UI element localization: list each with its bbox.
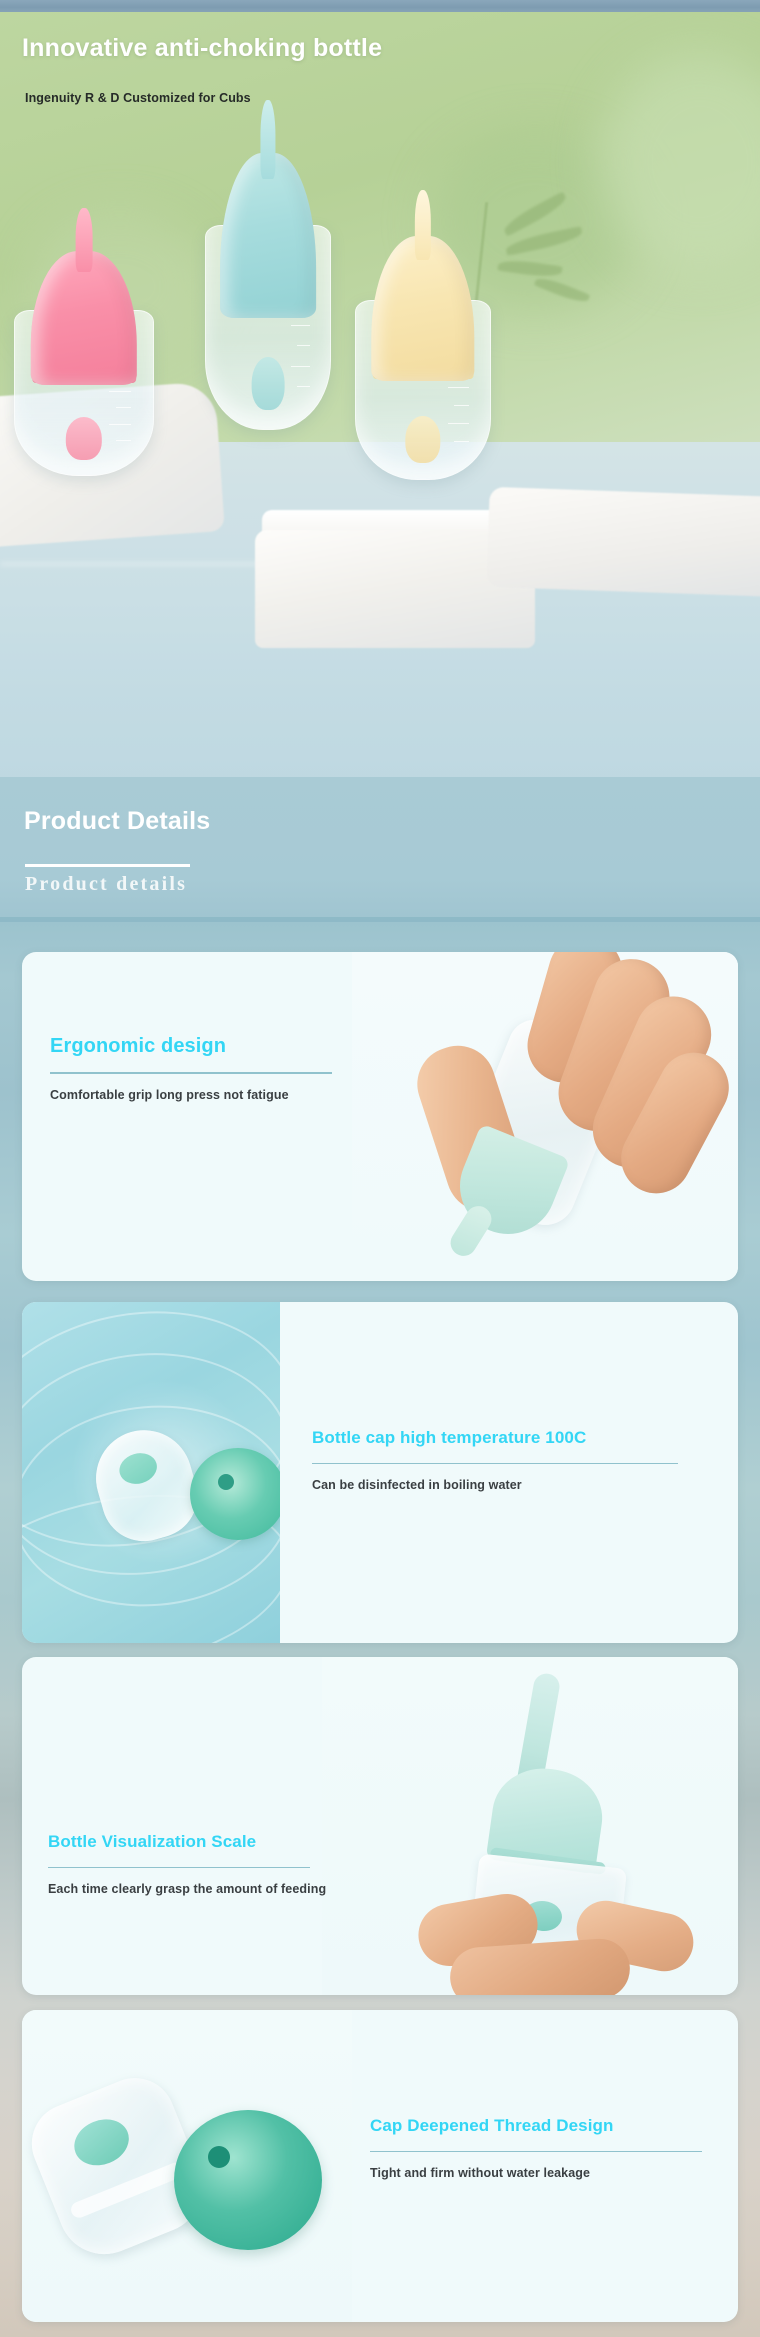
green-valve-cap <box>174 2110 322 2250</box>
bottle-nozzle <box>260 100 275 179</box>
feature-card[interactable]: Cap Deepened Thread Design Tight and fir… <box>22 2010 738 2322</box>
feature-title-underline <box>370 2151 702 2153</box>
product-bottle-cream <box>355 190 491 480</box>
feature-text-block: Bottle Visualization Scale Each time cle… <box>48 1832 388 1899</box>
feature-image-ergonomic-design <box>352 952 738 1281</box>
feature-title-underline <box>50 1072 332 1074</box>
feature-card[interactable]: Bottle Visualization Scale Each time cle… <box>22 1657 738 1995</box>
hero-title: Innovative anti-choking bottle <box>22 34 382 63</box>
feature-title: Cap Deepened Thread Design <box>370 2116 730 2137</box>
bottle-nozzle-tip <box>446 1201 497 1261</box>
feature-title-underline <box>312 1463 678 1465</box>
hero-subtitle: Ingenuity R & D Customized for Cubs <box>25 91 251 105</box>
section-subtitle: Product details <box>25 873 187 896</box>
top-accent-strip <box>0 0 760 12</box>
section-title-underline <box>25 864 190 867</box>
product-details-section-header: Product Details Product details <box>0 777 760 922</box>
bottle-nozzle <box>76 208 93 272</box>
feature-image-visualization-scale <box>322 1657 738 1995</box>
product-bottle-mint <box>205 100 331 430</box>
feature-card[interactable]: Bottle cap high temperature 100C Can be … <box>22 1302 738 1643</box>
section-title: Product Details <box>24 807 210 836</box>
feature-card[interactable]: Ergonomic design Comfortable grip long p… <box>22 952 738 1281</box>
hero-banner: Innovative anti-choking bottle Ingenuity… <box>0 12 760 777</box>
feature-title-underline <box>48 1867 310 1869</box>
feature-title: Ergonomic design <box>50 1034 370 1058</box>
feature-title: Bottle cap high temperature 100C <box>312 1428 712 1449</box>
product-bottle-pink <box>14 208 154 476</box>
bottle-inner-valve <box>405 416 440 462</box>
feature-image-boiling-water <box>22 1302 280 1643</box>
feature-description: Comfortable grip long press not fatigue <box>50 1087 370 1105</box>
feature-image-thread-design <box>22 2010 352 2322</box>
feature-text-block: Bottle cap high temperature 100C Can be … <box>312 1428 712 1495</box>
bottle-inner-valve <box>252 357 285 410</box>
towel-prop-right <box>486 487 760 597</box>
bottle-nozzle <box>415 190 431 260</box>
bottle-inner-valve <box>66 417 102 460</box>
feature-text-block: Ergonomic design Comfortable grip long p… <box>50 1034 370 1105</box>
green-valve-cap <box>190 1448 280 1540</box>
feature-description: Each time clearly grasp the amount of fe… <box>48 1881 388 1899</box>
feature-text-block: Cap Deepened Thread Design Tight and fir… <box>370 2116 730 2183</box>
feature-description: Tight and firm without water leakage <box>370 2165 730 2183</box>
feature-title: Bottle Visualization Scale <box>48 1832 388 1853</box>
feature-description: Can be disinfected in boiling water <box>312 1477 712 1495</box>
